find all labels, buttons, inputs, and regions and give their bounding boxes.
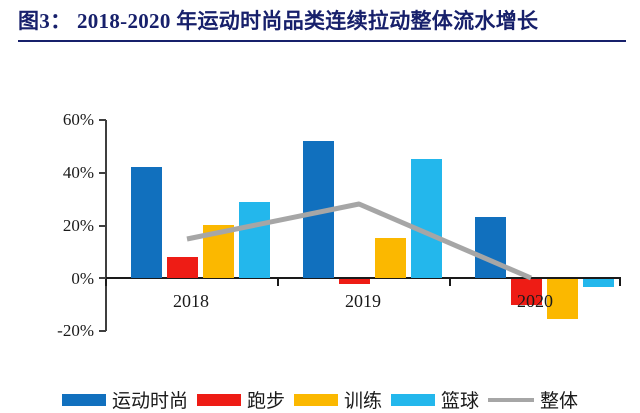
y-tick-label-20: 20% [24, 217, 94, 234]
legend-swatch-icon [294, 394, 338, 406]
y-tick-label-neg20: -20% [24, 322, 94, 339]
legend-item-lanqiu[interactable]: 篮球 [391, 386, 479, 413]
chart-canvas: 60% 40% 20% 0% -20% 2018 2019 2020 运动时尚 … [0, 42, 640, 372]
y-tick-neg20 [99, 330, 106, 332]
legend-label: 整体 [540, 386, 578, 413]
bar-2018-yundongshishang [131, 167, 162, 278]
bar-2018-xunlian [203, 225, 234, 278]
figure-title-block: 图3： 2018-2020 年运动时尚品类连续拉动整体流水增长 [0, 0, 640, 34]
legend-item-yundongshishang[interactable]: 运动时尚 [62, 386, 188, 413]
page-title: 图3： 2018-2020 年运动时尚品类连续拉动整体流水增长 [18, 8, 630, 34]
legend-swatch-icon [62, 394, 106, 406]
y-tick-20 [99, 225, 106, 227]
bar-2020-lanqiu [583, 279, 614, 287]
bar-2019-xunlian [375, 238, 406, 278]
bar-2019-paobu [339, 279, 370, 284]
bar-2019-yundongshishang [303, 141, 334, 278]
legend-item-xunlian[interactable]: 训练 [294, 386, 382, 413]
x-label-2018: 2018 [131, 291, 251, 312]
legend-label: 训练 [344, 386, 382, 413]
legend-label: 运动时尚 [112, 386, 188, 413]
bar-2018-paobu [167, 257, 198, 278]
x-tick-end [619, 279, 621, 286]
legend-swatch-icon [197, 394, 241, 406]
x-tick-1 [277, 279, 279, 286]
x-label-2020: 2020 [475, 291, 595, 312]
bar-2018-lanqiu [239, 202, 270, 278]
legend-line-icon [488, 398, 534, 402]
legend-swatch-icon [391, 394, 435, 406]
y-tick-40 [99, 172, 106, 174]
y-tick-60 [99, 119, 106, 121]
y-tick-label-40: 40% [24, 164, 94, 181]
x-label-2019: 2019 [303, 291, 423, 312]
legend-item-zhengti[interactable]: 整体 [488, 386, 578, 413]
y-tick-label-0: 0% [24, 270, 94, 287]
legend-label: 跑步 [247, 386, 285, 413]
bar-2019-lanqiu [411, 159, 442, 278]
chart-legend: 运动时尚 跑步 训练 篮球 整体 [0, 386, 640, 413]
bar-2020-yundongshishang [475, 217, 506, 278]
legend-label: 篮球 [441, 386, 479, 413]
x-tick-start [105, 279, 107, 286]
x-tick-2 [449, 279, 451, 286]
y-tick-label-60: 60% [24, 111, 94, 128]
legend-item-paobu[interactable]: 跑步 [197, 386, 285, 413]
